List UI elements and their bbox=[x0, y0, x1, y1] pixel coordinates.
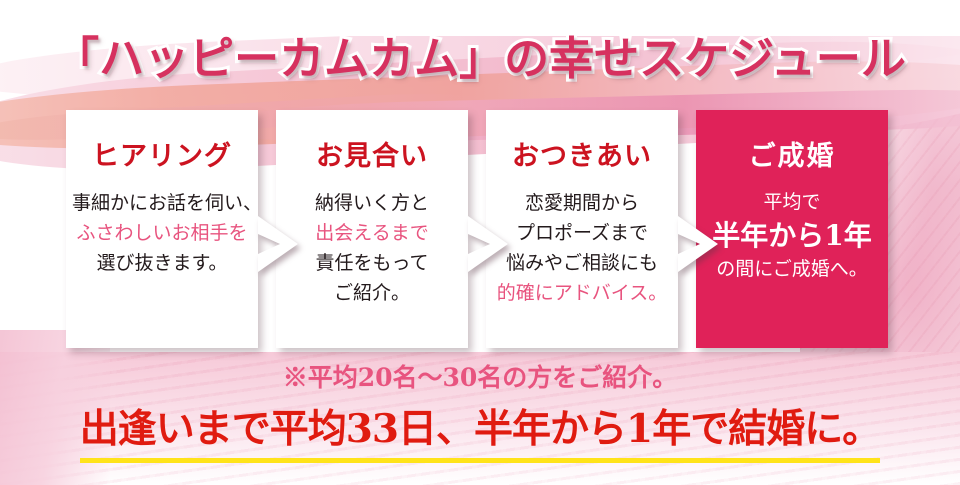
headline-text: 出逢いまで平均33日、半年から1年で結婚に。 bbox=[80, 408, 880, 463]
step-body: 事細かにお話を伺い、 ふさわしいお相手を 選び抜きます。 bbox=[72, 188, 252, 278]
headline-container: 出逢いまで平均33日、半年から1年で結婚に。 bbox=[0, 408, 960, 463]
step-body-line-small: 平均で bbox=[702, 188, 882, 217]
step-body-line: ご紹介。 bbox=[282, 278, 462, 308]
footnote: ※平均20名〜30名の方をご紹介。 bbox=[0, 358, 960, 394]
chevron-right-icon bbox=[678, 216, 718, 272]
step-title: ご成婚 bbox=[702, 140, 882, 174]
step-body-line: 責任をもって bbox=[282, 248, 462, 278]
step-body-line: 事細かにお話を伺い、 bbox=[72, 188, 252, 218]
step-title: ヒアリング bbox=[72, 140, 252, 174]
step-body-line: の間にご成婚へ。 bbox=[702, 255, 882, 284]
step-body-line-accent: ふさわしいお相手を bbox=[72, 218, 252, 248]
chevron-right-icon bbox=[258, 216, 298, 272]
step-body-line: 選び抜きます。 bbox=[72, 248, 252, 278]
step-body-line-emphasis: 半年から1年 bbox=[702, 216, 882, 255]
step-card-omiai: お見合い 納得いく方と 出会えるまで 責任をもって ご紹介。 bbox=[276, 110, 468, 348]
step-body: 納得いく方と 出会えるまで 責任をもって ご紹介。 bbox=[282, 188, 462, 308]
chevron-right-icon bbox=[468, 216, 508, 272]
step-body: 恋愛期間から プロポーズまで 悩みやご相談にも 的確にアドバイス。 bbox=[492, 188, 672, 308]
schedule-infographic: 「ハッピーカムカム」の幸せスケジュール ヒアリング 事細かにお話を伺い、 ふさわ… bbox=[0, 0, 960, 485]
step-body-line-accent: 出会えるまで bbox=[282, 218, 462, 248]
step-title: おつきあい bbox=[492, 140, 672, 174]
step-card-hearing: ヒアリング 事細かにお話を伺い、 ふさわしいお相手を 選び抜きます。 bbox=[66, 110, 258, 348]
step-body-line: プロポーズまで bbox=[492, 218, 672, 248]
step-body-line: 悩みやご相談にも bbox=[492, 248, 672, 278]
page-title: 「ハッピーカムカム」の幸せスケジュール bbox=[0, 22, 960, 84]
step-body-line-accent: 的確にアドバイス。 bbox=[492, 278, 672, 308]
step-body-line: 納得いく方と bbox=[282, 188, 462, 218]
page-title-text: 「ハッピーカムカム」の幸せスケジュール bbox=[54, 22, 906, 87]
step-title: お見合い bbox=[282, 140, 462, 174]
step-card-goseikon: ご成婚 平均で 半年から1年 の間にご成婚へ。 bbox=[696, 110, 888, 348]
step-body: 平均で 半年から1年 の間にご成婚へ。 bbox=[702, 188, 882, 285]
step-body-line: 恋愛期間から bbox=[492, 188, 672, 218]
step-card-otsukiai: おつきあい 恋愛期間から プロポーズまで 悩みやご相談にも 的確にアドバイス。 bbox=[486, 110, 678, 348]
